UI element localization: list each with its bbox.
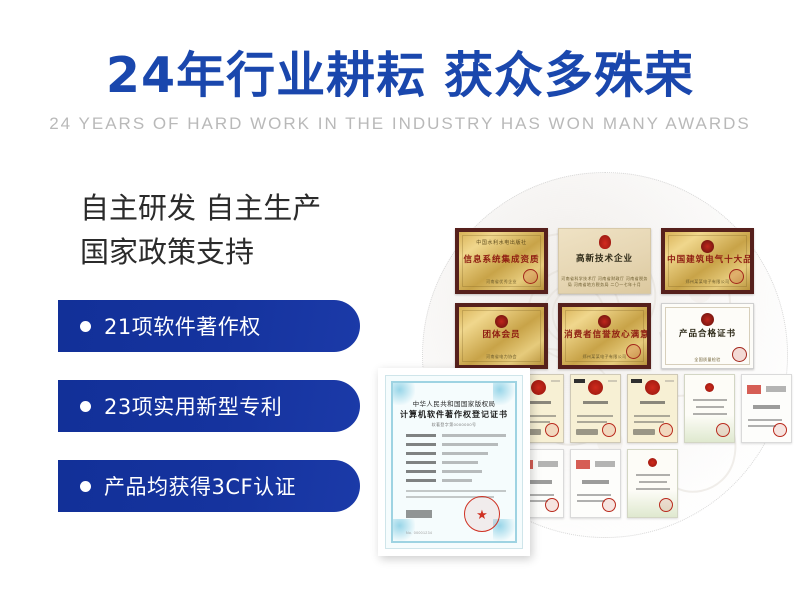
red-stamp-icon xyxy=(545,423,559,437)
highlight-banners: 21项软件著作权 23项实用新型专利 产品均获得3CF认证 xyxy=(58,300,388,512)
test-report xyxy=(570,449,621,518)
field-row xyxy=(406,443,506,446)
lead-text: 自主研发 自主生产 国家政策支持 xyxy=(58,186,388,274)
promo-page: 24年行业耕耘 获众多殊荣 24 YEARS OF HARD WORK IN T… xyxy=(0,0,800,592)
plaque-title: 产品合格证书 xyxy=(664,326,750,338)
plaque-item: 中国建筑电气十大品牌 郑州某某电子有限公司 xyxy=(661,228,754,294)
plaque-item: 高新技术企业 河南省科学技术厅 河南省财政厅 河南省税务局 河南省地方税务局 二… xyxy=(558,228,651,294)
red-stamp-icon xyxy=(602,498,616,512)
plaque-subtitle: 中国水利水电出版社 xyxy=(459,239,544,246)
patent-certificate xyxy=(570,374,621,443)
emblem-icon xyxy=(705,383,714,392)
plaque-title: 中国建筑电气十大品牌 xyxy=(667,252,748,264)
emblem-icon xyxy=(648,458,657,467)
plaque-footer: 河南省科学技术厅 河南省财政厅 河南省税务局 河南省地方税务局 二〇一七年十月 xyxy=(559,276,650,288)
red-stamp-icon xyxy=(602,423,616,437)
banner-label: 21项软件著作权 xyxy=(104,311,261,341)
field-row xyxy=(406,434,506,437)
plaque-item: 中国水利水电出版社 信息系统集成资质 河南省优秀企业 xyxy=(455,228,548,294)
plaque-item: 消费者信誉放心满意品牌 郑州某某电子有限公司 xyxy=(558,303,651,369)
page-title: 24年行业耕耘 获众多殊荣 xyxy=(0,46,800,106)
red-stamp-icon xyxy=(545,498,559,512)
red-stamp-icon xyxy=(659,498,673,512)
certificate-fields xyxy=(406,434,506,488)
national-seal-icon xyxy=(531,380,546,395)
brand-logo-icon xyxy=(747,385,761,394)
plaque-title: 团体会员 xyxy=(461,327,542,339)
seal-icon xyxy=(626,344,641,359)
left-column: 自主研发 自主生产 国家政策支持 21项软件著作权 23项实用新型专利 产品均获… xyxy=(58,186,388,540)
red-stamp-icon xyxy=(716,423,730,437)
highlight-banner-2[interactable]: 23项实用新型专利 xyxy=(58,380,360,432)
banner-label: 产品均获得3CF认证 xyxy=(104,471,296,501)
award-certificate xyxy=(684,374,735,443)
bullet-dot-icon xyxy=(80,401,91,412)
emblem-icon xyxy=(701,313,714,326)
field-row xyxy=(406,452,506,455)
bullet-dot-icon xyxy=(80,321,91,332)
bullet-dot-icon xyxy=(80,481,91,492)
certificate-title: 计算机软件著作权登记证书 xyxy=(386,409,522,420)
award-certificate xyxy=(627,449,678,518)
red-stamp-icon xyxy=(773,423,787,437)
national-seal-icon xyxy=(645,380,660,395)
flame-icon xyxy=(599,235,611,249)
highlight-banner-3[interactable]: 产品均获得3CF认证 xyxy=(58,460,360,512)
national-seal-icon xyxy=(588,380,603,395)
highlight-banner-1[interactable]: 21项软件著作权 xyxy=(58,300,360,352)
field-row xyxy=(406,479,506,482)
awards-artwork: 中国水利水电出版社 信息系统集成资质 河南省优秀企业 高新技术企业 河南省科学技… xyxy=(400,150,800,592)
signature-mark xyxy=(406,510,432,518)
report-title-bar xyxy=(753,405,780,409)
certificate-body: 中华人民共和国国家版权局 计算机软件著作权登记证书 软著登字第0000000号 … xyxy=(385,375,523,549)
certificate-reg-no: 软著登字第0000000号 xyxy=(386,422,522,428)
plaque-title: 高新技术企业 xyxy=(561,251,647,263)
software-copyright-certificate: 中华人民共和国国家版权局 计算机软件著作权登记证书 软著登字第0000000号 … xyxy=(378,368,530,556)
plaque-title: 信息系统集成资质 xyxy=(461,252,542,264)
page-header: 24年行业耕耘 获众多殊荣 24 YEARS OF HARD WORK IN T… xyxy=(0,46,800,134)
certificate-number: No. 00001234 xyxy=(406,531,432,535)
banner-label: 23项实用新型专利 xyxy=(104,391,282,421)
patent-certificate xyxy=(627,374,678,443)
red-stamp-icon xyxy=(659,423,673,437)
ornament-icon xyxy=(393,519,415,541)
seal-icon xyxy=(523,269,538,284)
field-row xyxy=(406,470,506,473)
seal-icon xyxy=(732,347,747,362)
test-report xyxy=(741,374,792,443)
lead-line-2: 国家政策支持 xyxy=(80,230,388,274)
org-mark xyxy=(766,386,786,392)
seal-icon xyxy=(729,269,744,284)
plaque-item: 产品合格证书 全国质量检验 xyxy=(661,303,754,369)
plaque-footer: 河南省电力协会 xyxy=(459,354,544,360)
lead-line-1: 自主研发 自主生产 xyxy=(80,186,388,230)
plaque-title: 消费者信誉放心满意品牌 xyxy=(564,327,645,339)
field-row xyxy=(406,461,506,464)
red-star-seal-icon: ★ xyxy=(464,496,500,532)
plaque-item: 团体会员 河南省电力协会 xyxy=(455,303,548,369)
certificate-issuer: 中华人民共和国国家版权局 xyxy=(386,398,522,408)
plaque-grid: 中国水利水电出版社 信息系统集成资质 河南省优秀企业 高新技术企业 河南省科学技… xyxy=(455,228,755,369)
page-subtitle: 24 YEARS OF HARD WORK IN THE INDUSTRY HA… xyxy=(0,114,800,134)
